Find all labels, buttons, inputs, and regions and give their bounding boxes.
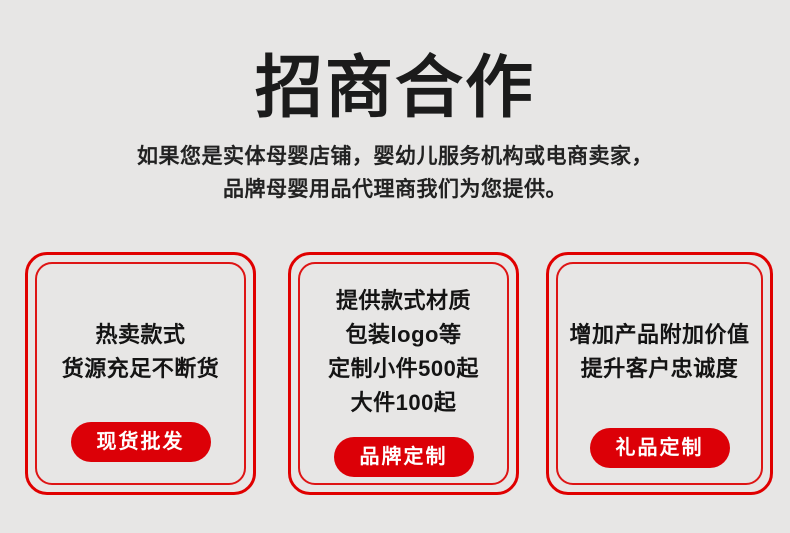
card-text-line: 热卖款式 [62, 318, 220, 352]
card-text-line: 提升客户忠诚度 [569, 352, 749, 386]
card-text-line: 包装logo等 [328, 318, 479, 352]
page-header: 招商合作 如果您是实体母婴店铺，婴幼儿服务机构或电商卖家， 品牌母婴用品代理商我… [0, 0, 790, 206]
feature-card-wholesale[interactable]: 热卖款式 货源充足不断货 现货批发 [25, 252, 256, 495]
card-text-line: 提供款式材质 [328, 284, 479, 318]
card-text: 增加产品附加价值 提升客户忠诚度 [569, 318, 749, 386]
card-text-line: 大件100起 [328, 386, 479, 420]
page-subtitle: 如果您是实体母婴店铺，婴幼儿服务机构或电商卖家， 品牌母婴用品代理商我们为您提供… [0, 128, 790, 206]
feature-card-row: 热卖款式 货源充足不断货 现货批发 提供款式材质 包装logo等 定制小件500… [0, 252, 790, 497]
card-text-line: 增加产品附加价值 [569, 318, 749, 352]
subtitle-line-2: 品牌母婴用品代理商我们为您提供。 [0, 173, 790, 206]
card-body: 增加产品附加价值 提升客户忠诚度 礼品定制 [556, 262, 763, 485]
card-body: 提供款式材质 包装logo等 定制小件500起 大件100起 品牌定制 [298, 262, 509, 485]
card-text: 提供款式材质 包装logo等 定制小件500起 大件100起 [328, 284, 479, 420]
card-badge-wholesale[interactable]: 现货批发 [71, 422, 211, 462]
page-title: 招商合作 [0, 0, 790, 128]
card-body: 热卖款式 货源充足不断货 现货批发 [35, 262, 246, 485]
card-badge-gift-custom[interactable]: 礼品定制 [590, 428, 730, 468]
card-text-line: 定制小件500起 [328, 352, 479, 386]
subtitle-line-1: 如果您是实体母婴店铺，婴幼儿服务机构或电商卖家， [0, 140, 790, 173]
feature-card-gift-custom[interactable]: 增加产品附加价值 提升客户忠诚度 礼品定制 [546, 252, 773, 495]
card-text-line: 货源充足不断货 [62, 352, 220, 386]
promo-page: 招商合作 如果您是实体母婴店铺，婴幼儿服务机构或电商卖家， 品牌母婴用品代理商我… [0, 0, 790, 533]
card-badge-brand-custom[interactable]: 品牌定制 [334, 437, 474, 477]
feature-card-brand-custom[interactable]: 提供款式材质 包装logo等 定制小件500起 大件100起 品牌定制 [288, 252, 519, 495]
card-text: 热卖款式 货源充足不断货 [62, 318, 220, 386]
